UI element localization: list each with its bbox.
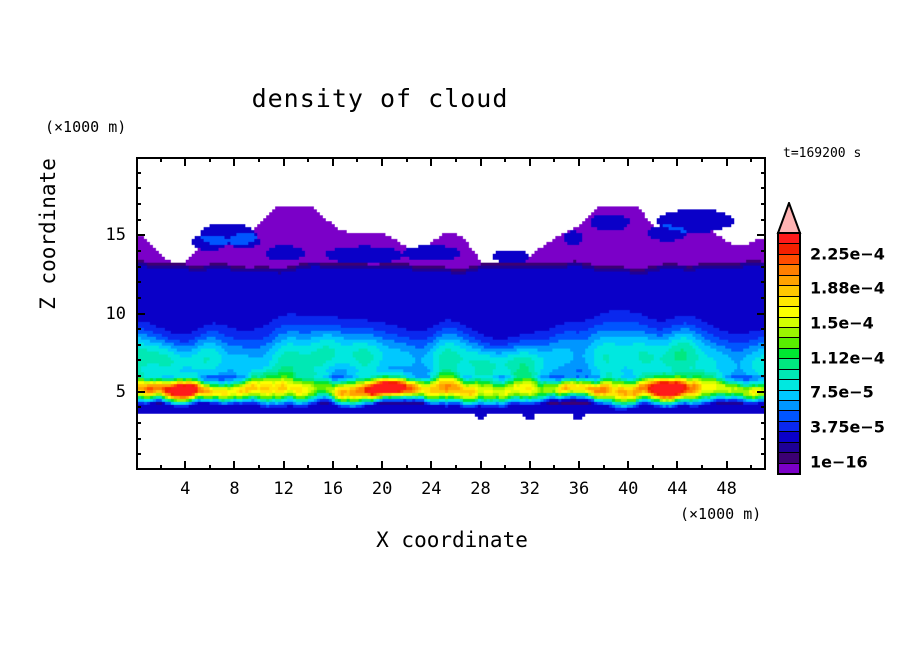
x-tick-mark-top [750,157,752,162]
x-tick-mark [209,465,211,470]
x-tick-mark [184,461,186,470]
y-tick-mark-right [757,234,766,236]
y-tick-mark [136,203,141,205]
x-tick-mark-top [578,157,580,166]
colorbar-band [779,244,799,254]
x-tick-mark [233,461,235,470]
y-tick-mark [136,281,141,283]
x-tick-mark [332,461,334,470]
colorbar-band [779,411,799,421]
x-tick-mark-top [627,157,629,166]
x-tick-mark-top [283,157,285,166]
colorbar-band [779,234,799,244]
x-tick-mark-top [332,157,334,166]
page-title: density of cloud [0,84,760,113]
y-tick-mark-right [761,250,766,252]
x-tick-mark [603,465,605,470]
colorbar-band [779,464,799,473]
y-tick-mark-right [761,219,766,221]
figure-canvas: density of cloud (×1000 m) t=169200 s 48… [0,0,904,654]
colorbar-band-strip [777,232,801,475]
x-tick-mark [726,461,728,470]
x-tick-mark [676,461,678,470]
y-tick-mark-right [761,281,766,283]
x-tick-mark [381,461,383,470]
colorbar-band [779,255,799,265]
colorbar-band [779,453,799,463]
colorbar-band [779,391,799,401]
y-tick-mark-right [761,344,766,346]
x-tick-mark-top [726,157,728,166]
y-tick-mark-right [757,313,766,315]
colorbar-band [779,380,799,390]
y-tick-mark [136,375,141,377]
x-tick-mark [430,461,432,470]
y-tick-mark [136,391,145,393]
x-tick-label: 28 [470,479,490,499]
x-axis-title-text: X coordinate [376,528,528,552]
x-tick-label: 40 [618,479,638,499]
x-tick-label: 44 [667,479,687,499]
x-tick-mark [627,461,629,470]
x-tick-mark-top [307,157,309,162]
colorbar-tick-label: 1e−16 [810,452,868,471]
x-tick-mark-top [430,157,432,166]
x-tick-mark [258,465,260,470]
x-tick-label: 8 [229,479,239,499]
x-tick-mark-top [603,157,605,162]
x-tick-mark [750,465,752,470]
time-annotation: t=169200 s [783,146,861,161]
x-tick-label: 36 [569,479,589,499]
x-tick-mark-top [258,157,260,162]
x-tick-label: 20 [372,479,392,499]
colorbar-arrow-icon [776,202,802,234]
x-tick-mark-top [529,157,531,166]
colorbar-band [779,286,799,296]
y-tick-mark [136,234,145,236]
x-tick-mark-top [160,157,162,162]
y-tick-mark [136,422,141,424]
colorbar-band [779,359,799,369]
x-tick-mark [529,461,531,470]
x-tick-mark-top [184,157,186,166]
y-tick-mark [136,266,141,268]
colorbar-band [779,338,799,348]
colorbar-band [779,349,799,359]
y-tick-mark-right [761,266,766,268]
y-tick-mark [136,453,141,455]
x-tick-mark-top [480,157,482,166]
y-tick-mark [136,172,141,174]
x-tick-label: 16 [323,479,343,499]
x-tick-mark [578,461,580,470]
x-tick-label: 24 [421,479,441,499]
colorbar-band [779,307,799,317]
x-tick-mark [406,465,408,470]
colorbar-band [779,328,799,338]
y-tick-mark [136,219,141,221]
x-tick-mark-top [209,157,211,162]
x-tick-mark-top [381,157,383,166]
colorbar-tick-label: 2.25e−4 [810,244,885,263]
x-tick-mark-top [406,157,408,162]
y-tick-mark-right [761,297,766,299]
y-tick-mark-right [761,328,766,330]
y-tick-label: 15 [80,225,126,245]
x-tick-mark [701,465,703,470]
x-tick-mark [652,465,654,470]
contour-plot-canvas [138,159,764,468]
x-tick-mark-top [356,157,358,162]
colorbar-band [779,318,799,328]
x-tick-mark [160,465,162,470]
y-tick-mark [136,187,141,189]
y-tick-mark [136,344,141,346]
x-tick-mark-top [701,157,703,162]
colorbar-band [779,422,799,432]
x-tick-label: 12 [273,479,293,499]
colorbar-tick-label: 7.5e−5 [810,383,874,402]
x-tick-mark [480,461,482,470]
y-tick-mark [136,313,145,315]
x-tick-mark-top [553,157,555,162]
colorbar-tick-label: 3.75e−5 [810,418,885,437]
y-tick-mark-right [761,406,766,408]
x-tick-mark [455,465,457,470]
y-tick-mark-right [761,438,766,440]
colorbar-tick-label: 1.12e−4 [810,348,885,367]
y-tick-mark-right [757,391,766,393]
colorbar-band [779,432,799,442]
x-tick-label: 48 [716,479,736,499]
x-tick-mark [553,465,555,470]
x-tick-mark [356,465,358,470]
colorbar-tick-label: 1.5e−4 [810,313,874,332]
x-tick-mark-top [504,157,506,162]
x-tick-mark-top [233,157,235,166]
y-tick-mark-right [761,359,766,361]
x-tick-mark-top [652,157,654,162]
y-tick-mark [136,406,141,408]
x-tick-mark [307,465,309,470]
y-tick-label: 10 [80,304,126,324]
colorbar-band [779,276,799,286]
y-axis-title: Z coordinate [36,134,60,334]
x-tick-mark-top [455,157,457,162]
y-tick-mark [136,359,141,361]
x-tick-mark-top [676,157,678,166]
y-tick-mark-right [761,375,766,377]
y-tick-label: 5 [80,382,126,402]
colorbar-tick-label: 1.88e−4 [810,279,885,298]
y-tick-mark-right [761,187,766,189]
x-tick-mark [504,465,506,470]
y-tick-mark [136,328,141,330]
colorbar-band [779,370,799,380]
x-tick-label: 4 [180,479,190,499]
x-tick-label: 32 [520,479,540,499]
colorbar-band [779,297,799,307]
plot-area [136,157,766,470]
y-tick-mark-right [761,203,766,205]
colorbar-band [779,265,799,275]
x-tick-mark [283,461,285,470]
y-tick-mark [136,297,141,299]
x-axis-title: X coordinate [0,528,904,552]
colorbar-band [779,443,799,453]
x-axis-unit-label: (×1000 m) [680,505,761,523]
y-tick-mark [136,438,141,440]
y-tick-mark-right [761,172,766,174]
y-tick-mark-right [761,453,766,455]
colorbar-band [779,401,799,411]
y-tick-mark [136,250,141,252]
y-tick-mark-right [761,422,766,424]
colorbar: 2.25e−41.88e−41.5e−41.12e−47.5e−53.75e−5… [776,202,896,477]
